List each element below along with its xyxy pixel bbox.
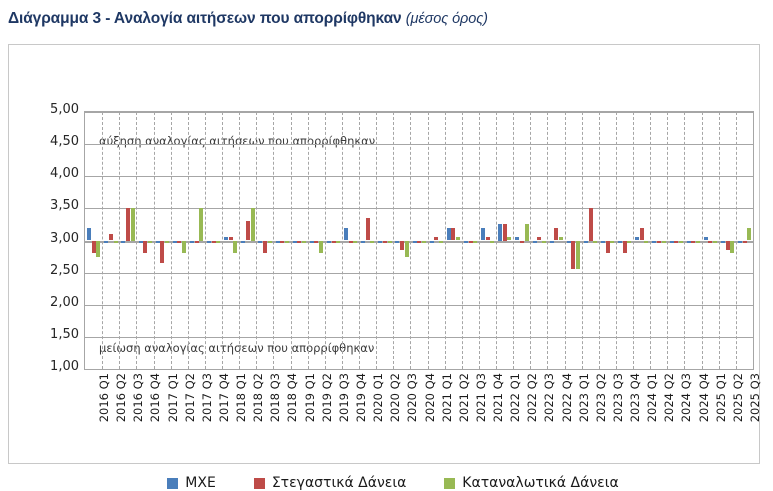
x-axis-tick-label: 2020 Q4 xyxy=(423,373,437,422)
x-axis-tick-label: 2020 Q3 xyxy=(405,373,419,422)
bar xyxy=(195,241,199,244)
bar xyxy=(554,228,558,241)
bar-group xyxy=(222,112,239,369)
chart-legend: ΜΧΕΣτεγαστικά ΔάνειαΚαταναλωτικά Δάνεια xyxy=(17,475,769,491)
bar xyxy=(370,241,374,244)
bar xyxy=(258,241,262,244)
bar xyxy=(635,237,639,240)
bar xyxy=(233,241,237,254)
bar-group xyxy=(633,112,650,369)
bar xyxy=(439,241,443,244)
bar-group xyxy=(171,112,188,369)
bar-group xyxy=(684,112,701,369)
bar xyxy=(212,241,216,244)
bar xyxy=(610,241,614,244)
bar-group xyxy=(565,112,582,369)
y-axis-tick-label: 5,00 xyxy=(17,102,79,117)
bar-group xyxy=(462,112,479,369)
bar xyxy=(92,241,96,254)
legend-label: Καταναλωτικά Δάνεια xyxy=(462,475,618,491)
bar xyxy=(503,224,507,240)
y-axis-tick-label: 1,00 xyxy=(17,359,79,374)
bar xyxy=(542,241,546,244)
bar xyxy=(148,241,152,244)
bar-group xyxy=(547,112,564,369)
bar xyxy=(114,241,118,244)
bar xyxy=(747,228,751,241)
bar xyxy=(344,228,348,241)
bar xyxy=(160,241,164,263)
legend-swatch-icon xyxy=(444,478,455,489)
x-axis-tick-label: 2016 Q1 xyxy=(97,373,111,422)
bar-group xyxy=(616,112,633,369)
x-axis-tick-label: 2016 Q3 xyxy=(131,373,145,422)
bar xyxy=(109,234,113,240)
x-axis-tick-label: 2018 Q3 xyxy=(268,373,282,422)
x-axis-tick-label: 2016 Q2 xyxy=(114,373,128,422)
page-title: Διάγραμμα 3 - Αναλογία αιτήσεων που απορ… xyxy=(8,10,488,28)
bar xyxy=(486,237,490,240)
bar xyxy=(652,241,656,244)
bar xyxy=(430,241,434,244)
bar-group xyxy=(273,112,290,369)
bar-group xyxy=(119,112,136,369)
chart-frame: 5,004,504,003,503,002,502,001,501,00 αύξ… xyxy=(8,44,760,464)
x-axis-tick-label: 2020 Q1 xyxy=(371,373,385,422)
bar-group xyxy=(445,112,462,369)
bar xyxy=(721,241,725,244)
bar xyxy=(417,241,421,244)
bar xyxy=(378,241,382,244)
bar xyxy=(366,218,370,240)
x-axis-tick-label: 2022 Q4 xyxy=(560,373,574,422)
bar xyxy=(606,241,610,254)
bar xyxy=(319,241,323,254)
bar xyxy=(670,241,674,244)
bar-group xyxy=(239,112,256,369)
bar xyxy=(533,241,537,244)
x-axis-tick-label: 2025 Q1 xyxy=(714,373,728,422)
x-axis-tick-label: 2017 Q1 xyxy=(166,373,180,422)
x-axis-tick-label: 2019 Q2 xyxy=(320,373,334,422)
bar xyxy=(96,241,100,257)
x-axis-tick-label: 2022 Q2 xyxy=(525,373,539,422)
y-axis-tick-label: 2,00 xyxy=(17,295,79,310)
bar xyxy=(696,241,700,244)
bar xyxy=(589,208,593,240)
bar xyxy=(263,241,267,254)
bar xyxy=(268,241,272,244)
legend-swatch-icon xyxy=(254,478,265,489)
bar xyxy=(285,241,289,244)
x-axis-tick-label: 2022 Q1 xyxy=(508,373,522,422)
bar xyxy=(361,241,365,244)
x-axis-tick-label: 2017 Q3 xyxy=(200,373,214,422)
bar-group xyxy=(85,112,102,369)
bar xyxy=(679,241,683,244)
bar-group xyxy=(308,112,325,369)
x-axis-tick-label: 2023 Q3 xyxy=(611,373,625,422)
bar-group xyxy=(428,112,445,369)
bar-group xyxy=(291,112,308,369)
legend-item[interactable]: Στεγαστικά Δάνεια xyxy=(254,475,406,491)
bar xyxy=(182,241,186,254)
bar-group xyxy=(479,112,496,369)
bar-group xyxy=(702,112,719,369)
bar xyxy=(405,241,409,257)
bar xyxy=(422,241,426,244)
x-axis-tick-label: 2019 Q4 xyxy=(354,373,368,422)
bar xyxy=(173,241,177,244)
x-axis-tick-label: 2019 Q1 xyxy=(303,373,317,422)
bar xyxy=(704,237,708,240)
x-axis-tick-label: 2019 Q3 xyxy=(337,373,351,422)
bar xyxy=(738,241,742,244)
bar-group xyxy=(599,112,616,369)
bar xyxy=(525,224,529,240)
x-axis-tick-label: 2025 Q3 xyxy=(748,373,762,422)
legend-item[interactable]: ΜΧΕ xyxy=(167,475,216,491)
x-axis-tick-label: 2020 Q2 xyxy=(388,373,402,422)
x-axis-tick-label: 2024 Q4 xyxy=(697,373,711,422)
bar xyxy=(241,241,245,244)
bar xyxy=(571,241,575,270)
bar xyxy=(332,241,336,244)
bar xyxy=(576,241,580,270)
bar-group xyxy=(496,112,513,369)
bar xyxy=(251,208,255,240)
bar-group xyxy=(342,112,359,369)
bar xyxy=(490,241,494,244)
bar xyxy=(593,241,597,244)
bar xyxy=(104,241,108,244)
bar-group xyxy=(667,112,684,369)
legend-item[interactable]: Καταναλωτικά Δάνεια xyxy=(444,475,618,491)
bar xyxy=(657,241,661,244)
bar xyxy=(730,241,734,254)
bar xyxy=(395,241,399,244)
x-axis-tick-label: 2018 Q4 xyxy=(285,373,299,422)
bar-group xyxy=(736,112,753,369)
bar xyxy=(413,241,417,244)
bar xyxy=(469,241,473,244)
bar xyxy=(327,241,331,244)
x-axis-tick-label: 2018 Q2 xyxy=(251,373,265,422)
x-axis-tick-label: 2018 Q1 xyxy=(234,373,248,422)
y-axis-tick-label: 4,00 xyxy=(17,166,79,181)
bar xyxy=(400,241,404,251)
y-axis-tick-label: 1,50 xyxy=(17,327,79,342)
bar xyxy=(520,241,524,244)
y-axis-tick-label: 2,50 xyxy=(17,263,79,278)
bar xyxy=(726,241,730,251)
y-axis-tick-label: 3,50 xyxy=(17,198,79,213)
bar xyxy=(481,228,485,241)
bar xyxy=(447,228,451,241)
bar xyxy=(276,241,280,244)
bar xyxy=(207,241,211,244)
x-axis-tick-label: 2017 Q4 xyxy=(217,373,231,422)
bar xyxy=(515,237,519,240)
x-axis-tick-label: 2024 Q3 xyxy=(679,373,693,422)
bar xyxy=(434,237,438,240)
bar xyxy=(349,241,353,244)
bar xyxy=(297,241,301,244)
bar xyxy=(310,241,314,244)
x-axis-tick-label: 2023 Q4 xyxy=(628,373,642,422)
bar xyxy=(464,241,468,244)
bar xyxy=(640,228,644,241)
x-axis-tick-label: 2024 Q2 xyxy=(662,373,676,422)
bar xyxy=(473,241,477,244)
plot-area: αύξηση αναλογίας αιτήσεων που απορρίφθηκ… xyxy=(84,111,754,370)
bar xyxy=(388,241,392,244)
bar-group xyxy=(256,112,273,369)
x-axis-tick-label: 2023 Q1 xyxy=(577,373,591,422)
bar xyxy=(451,228,455,241)
x-axis-tick-label: 2021 Q3 xyxy=(474,373,488,422)
bar-group xyxy=(582,112,599,369)
bar-group xyxy=(325,112,342,369)
bar xyxy=(87,228,91,241)
bar xyxy=(743,241,747,244)
gridline-horizontal xyxy=(85,369,753,370)
bar-group xyxy=(393,112,410,369)
bar xyxy=(383,241,387,244)
bar-group xyxy=(719,112,736,369)
bar xyxy=(644,241,648,244)
bar xyxy=(139,241,143,244)
bar xyxy=(216,241,220,244)
bar xyxy=(126,208,130,240)
bar xyxy=(584,241,588,244)
bar-group xyxy=(102,112,119,369)
bar-group xyxy=(513,112,530,369)
x-axis-tick-label: 2022 Q3 xyxy=(542,373,556,422)
x-axis-tick-label: 2025 Q2 xyxy=(731,373,745,422)
bar xyxy=(143,241,147,254)
bar xyxy=(662,241,666,244)
bar xyxy=(713,241,717,244)
bar xyxy=(190,241,194,244)
bar-group xyxy=(205,112,222,369)
bar-group xyxy=(376,112,393,369)
bar xyxy=(674,241,678,244)
x-axis-tick-label: 2017 Q2 xyxy=(183,373,197,422)
x-axis-tick-label: 2021 Q2 xyxy=(457,373,471,422)
bar xyxy=(353,241,357,244)
bar xyxy=(559,237,563,240)
x-axis-tick-label: 2024 Q1 xyxy=(645,373,659,422)
bar xyxy=(623,241,627,254)
bar xyxy=(246,221,250,240)
bar xyxy=(550,241,554,244)
bar xyxy=(314,241,318,244)
bar xyxy=(627,241,631,244)
bar xyxy=(224,237,228,240)
bar xyxy=(121,241,125,244)
legend-swatch-icon xyxy=(167,478,178,489)
chart-title-sub: (μέσος όρος) xyxy=(406,11,488,27)
bar xyxy=(156,241,160,244)
bar xyxy=(507,237,511,240)
bar-group xyxy=(410,112,427,369)
bar-group xyxy=(188,112,205,369)
bar xyxy=(537,237,541,240)
bar-group xyxy=(650,112,667,369)
bar xyxy=(199,208,203,240)
bar xyxy=(302,241,306,244)
bar xyxy=(456,237,460,240)
bar xyxy=(691,241,695,244)
bar xyxy=(177,241,181,244)
x-axis-tick-label: 2016 Q4 xyxy=(148,373,162,422)
bar xyxy=(567,241,571,244)
bar xyxy=(687,241,691,244)
bar xyxy=(601,241,605,244)
chart-title-main: Διάγραμμα 3 - Αναλογία αιτήσεων που απορ… xyxy=(8,10,402,27)
bar xyxy=(165,241,169,244)
bar-group xyxy=(530,112,547,369)
x-axis-tick-label: 2021 Q1 xyxy=(440,373,454,422)
bar-group xyxy=(136,112,153,369)
x-axis-tick-label: 2021 Q4 xyxy=(491,373,505,422)
bar-group xyxy=(359,112,376,369)
bar xyxy=(336,241,340,244)
bar xyxy=(229,237,233,240)
legend-label: ΜΧΕ xyxy=(185,475,216,491)
bar xyxy=(293,241,297,244)
x-axis-tick-label: 2023 Q2 xyxy=(594,373,608,422)
bar-group xyxy=(154,112,171,369)
y-axis-tick-label: 4,50 xyxy=(17,134,79,149)
bar xyxy=(498,224,502,240)
bar xyxy=(618,241,622,244)
bar xyxy=(708,241,712,244)
legend-label: Στεγαστικά Δάνεια xyxy=(272,475,406,491)
bar xyxy=(280,241,284,244)
y-axis-tick-label: 3,00 xyxy=(17,231,79,246)
bar xyxy=(131,208,135,240)
x-axis: 2016 Q12016 Q22016 Q32016 Q42017 Q12017 … xyxy=(84,373,754,465)
